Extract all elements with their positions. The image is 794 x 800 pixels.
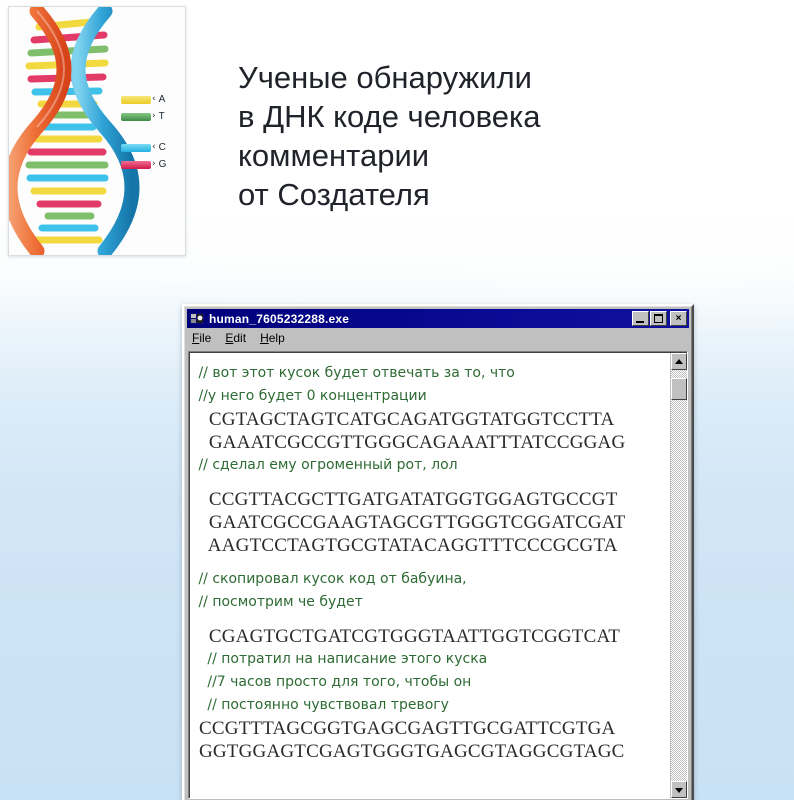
window-inner-frame: human_7605232288.exe × File <box>184 306 692 800</box>
headline: Ученые обнаружили в ДНК коде человека ко… <box>238 58 758 214</box>
legend-label-c: C <box>159 142 166 153</box>
minimize-button[interactable] <box>632 311 649 326</box>
code-comment-line: // скопировал кусок код от бабуина, <box>194 568 666 591</box>
legend-row-g: › G <box>121 158 183 171</box>
dna-sequence-line: CGAGTGCTGATCGTGGGTAATTGGTCGGTCAT <box>194 625 666 648</box>
legend-label-a: A <box>159 94 166 105</box>
dna-sequence-line: AAGTCCTAGTGCGTATACAGGTTTCCCGCGTA <box>194 534 666 557</box>
legend-notch-a: ‹ <box>152 95 156 104</box>
title-bar[interactable]: human_7605232288.exe × <box>187 309 689 328</box>
code-blank-line <box>194 477 666 488</box>
app-window: human_7605232288.exe × File <box>182 304 694 800</box>
maximize-icon <box>654 314 663 323</box>
dna-sequence-line: GGTGGAGTCGAGTGGGTGAGCGTAGGCGTAGC <box>194 740 666 763</box>
code-comment-line: // посмотрим че будет <box>194 591 666 614</box>
legend-notch-c: ‹ <box>152 143 156 152</box>
menu-edit-rest: dit <box>233 331 246 345</box>
code-comment-line: // сделал ему огроменный рот, лол <box>194 454 666 477</box>
legend-swatch-c <box>121 144 151 152</box>
code-text-area[interactable]: // вот этот кусок будет отвечать за то, … <box>190 353 670 798</box>
legend-notch-t: › <box>152 112 156 121</box>
menu-item-edit[interactable]: Edit <box>225 331 246 345</box>
headline-line-1: Ученые обнаружили <box>238 58 758 97</box>
legend-swatch-t <box>121 113 151 121</box>
code-blank-line <box>194 557 666 568</box>
legend-row-t: › T <box>121 110 183 123</box>
legend-label-g: G <box>159 159 167 170</box>
menu-file-rest: ile <box>199 331 211 345</box>
dna-sequence-line: CCGTTACGCTTGATGATATGGTGGAGTGCCGT <box>194 488 666 511</box>
code-comment-line: // вот этот кусок будет отвечать за то, … <box>194 362 666 385</box>
code-comment-line: // потратил на написание этого куска <box>194 648 666 671</box>
scrollbar-track[interactable] <box>671 370 687 781</box>
scrollbar-thumb[interactable] <box>671 378 687 400</box>
code-comment-line: //7 часов просто для того, чтобы он <box>194 671 666 694</box>
menu-help-mnemonic: H <box>260 331 269 345</box>
scroll-up-button[interactable] <box>671 353 687 370</box>
maximize-button[interactable] <box>650 311 667 326</box>
client-inner: // вот этот кусок будет отвечать за то, … <box>189 352 687 798</box>
app-icon <box>189 311 205 326</box>
code-comment-line: //у него будет 0 концентрации <box>194 385 666 408</box>
menu-help-rest: elp <box>269 331 285 345</box>
dna-legend: ‹ A › T ‹ C › G <box>121 93 183 175</box>
window-title: human_7605232288.exe <box>209 312 631 326</box>
scroll-down-button[interactable] <box>671 781 687 798</box>
headline-line-4: от Создателя <box>238 175 758 214</box>
dna-sequence-line: CCGTTTAGCGGTGAGCGAGTTGCGATTCGTGA <box>194 717 666 740</box>
dna-illustration-card: ‹ A › T ‹ C › G <box>8 6 186 256</box>
scroll-up-icon <box>675 359 683 364</box>
minimize-icon <box>636 321 644 323</box>
window-controls: × <box>631 311 687 326</box>
scroll-down-icon <box>675 788 683 793</box>
dna-sequence-line: GAATCGCCGAAGTAGCGTTGGGTCGGATCGAT <box>194 511 666 534</box>
client-area: // вот этот кусок будет отвечать за то, … <box>188 351 688 799</box>
code-comment-line: // постоянно чувствовал тревогу <box>194 694 666 717</box>
legend-swatch-a <box>121 96 151 104</box>
vertical-scrollbar[interactable] <box>670 353 687 798</box>
menu-item-help[interactable]: Help <box>260 331 285 345</box>
legend-row-a: ‹ A <box>121 93 183 106</box>
headline-line-2: в ДНК коде человека <box>238 97 758 136</box>
dna-sequence-line: GAAATCGCCGTTGGGCAGAAATTTATCCGGAG <box>194 431 666 454</box>
page-root: ‹ A › T ‹ C › G Ученые обнаружили в ДНК … <box>0 0 794 800</box>
legend-row-c: ‹ C <box>121 141 183 154</box>
legend-label-t: T <box>159 111 165 122</box>
headline-line-3: комментарии <box>238 136 758 175</box>
legend-notch-g: › <box>152 160 156 169</box>
legend-swatch-g <box>121 161 151 169</box>
menu-item-file[interactable]: File <box>192 331 211 345</box>
close-icon: × <box>676 313 682 324</box>
close-button[interactable]: × <box>670 311 687 326</box>
menu-bar: File Edit Help <box>187 328 689 348</box>
dna-sequence-line: CGTAGCTAGTCATGCAGATGGTATGGTCCTTA <box>194 408 666 431</box>
code-blank-line <box>194 614 666 625</box>
